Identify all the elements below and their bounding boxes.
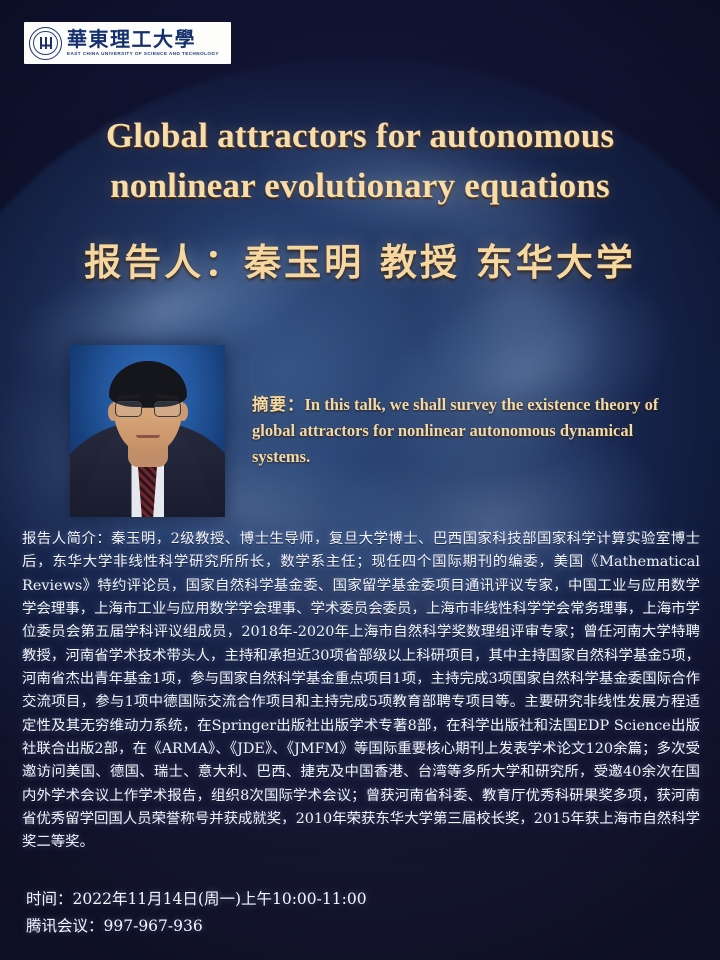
- event-time: 时间：2022年11月14日(周一)上午10:00-11:00: [26, 886, 367, 913]
- logo-name-english: EAST CHINA UNIVERSITY OF SCIENCE AND TEC…: [67, 52, 219, 57]
- portrait-lens-right: [154, 401, 181, 417]
- portrait-lens-left: [115, 401, 142, 417]
- portrait-mouth: [136, 435, 160, 438]
- glasses-icon: [115, 401, 181, 418]
- portrait-glasses-bridge: [142, 407, 154, 408]
- abstract-block: 摘要：In this talk, we shall survey the exi…: [252, 392, 684, 470]
- logo-text-group: 華東理工大學 EAST CHINA UNIVERSITY OF SCIENCE …: [67, 29, 219, 56]
- speaker-biography: 报告人简介：秦玉明，2级教授、博士生导师，复旦大学博士、巴西国家科技部国家科学计…: [22, 528, 700, 855]
- abstract-label: 摘要：: [252, 395, 305, 414]
- seminar-poster: 華東理工大學 EAST CHINA UNIVERSITY OF SCIENCE …: [0, 0, 720, 960]
- title-line-1: Global attractors for autonomous: [0, 111, 720, 161]
- logo-name-chinese: 華東理工大學: [67, 29, 219, 49]
- speaker-portrait-photo: [70, 345, 225, 517]
- university-logo: 華東理工大學 EAST CHINA UNIVERSITY OF SCIENCE …: [24, 22, 231, 64]
- page-title: Global attractors for autonomous nonline…: [0, 111, 720, 210]
- meeting-id: 腾讯会议：997-967-936: [26, 913, 367, 940]
- abstract-text: In this talk, we shall survey the existe…: [252, 395, 658, 466]
- university-emblem-icon: [29, 27, 62, 60]
- speaker-line: 报告人：秦玉明 教授 东华大学: [0, 232, 720, 286]
- event-details: 时间：2022年11月14日(周一)上午10:00-11:00 腾讯会议：997…: [26, 886, 367, 939]
- title-line-2: nonlinear evolutionary equations: [0, 161, 720, 211]
